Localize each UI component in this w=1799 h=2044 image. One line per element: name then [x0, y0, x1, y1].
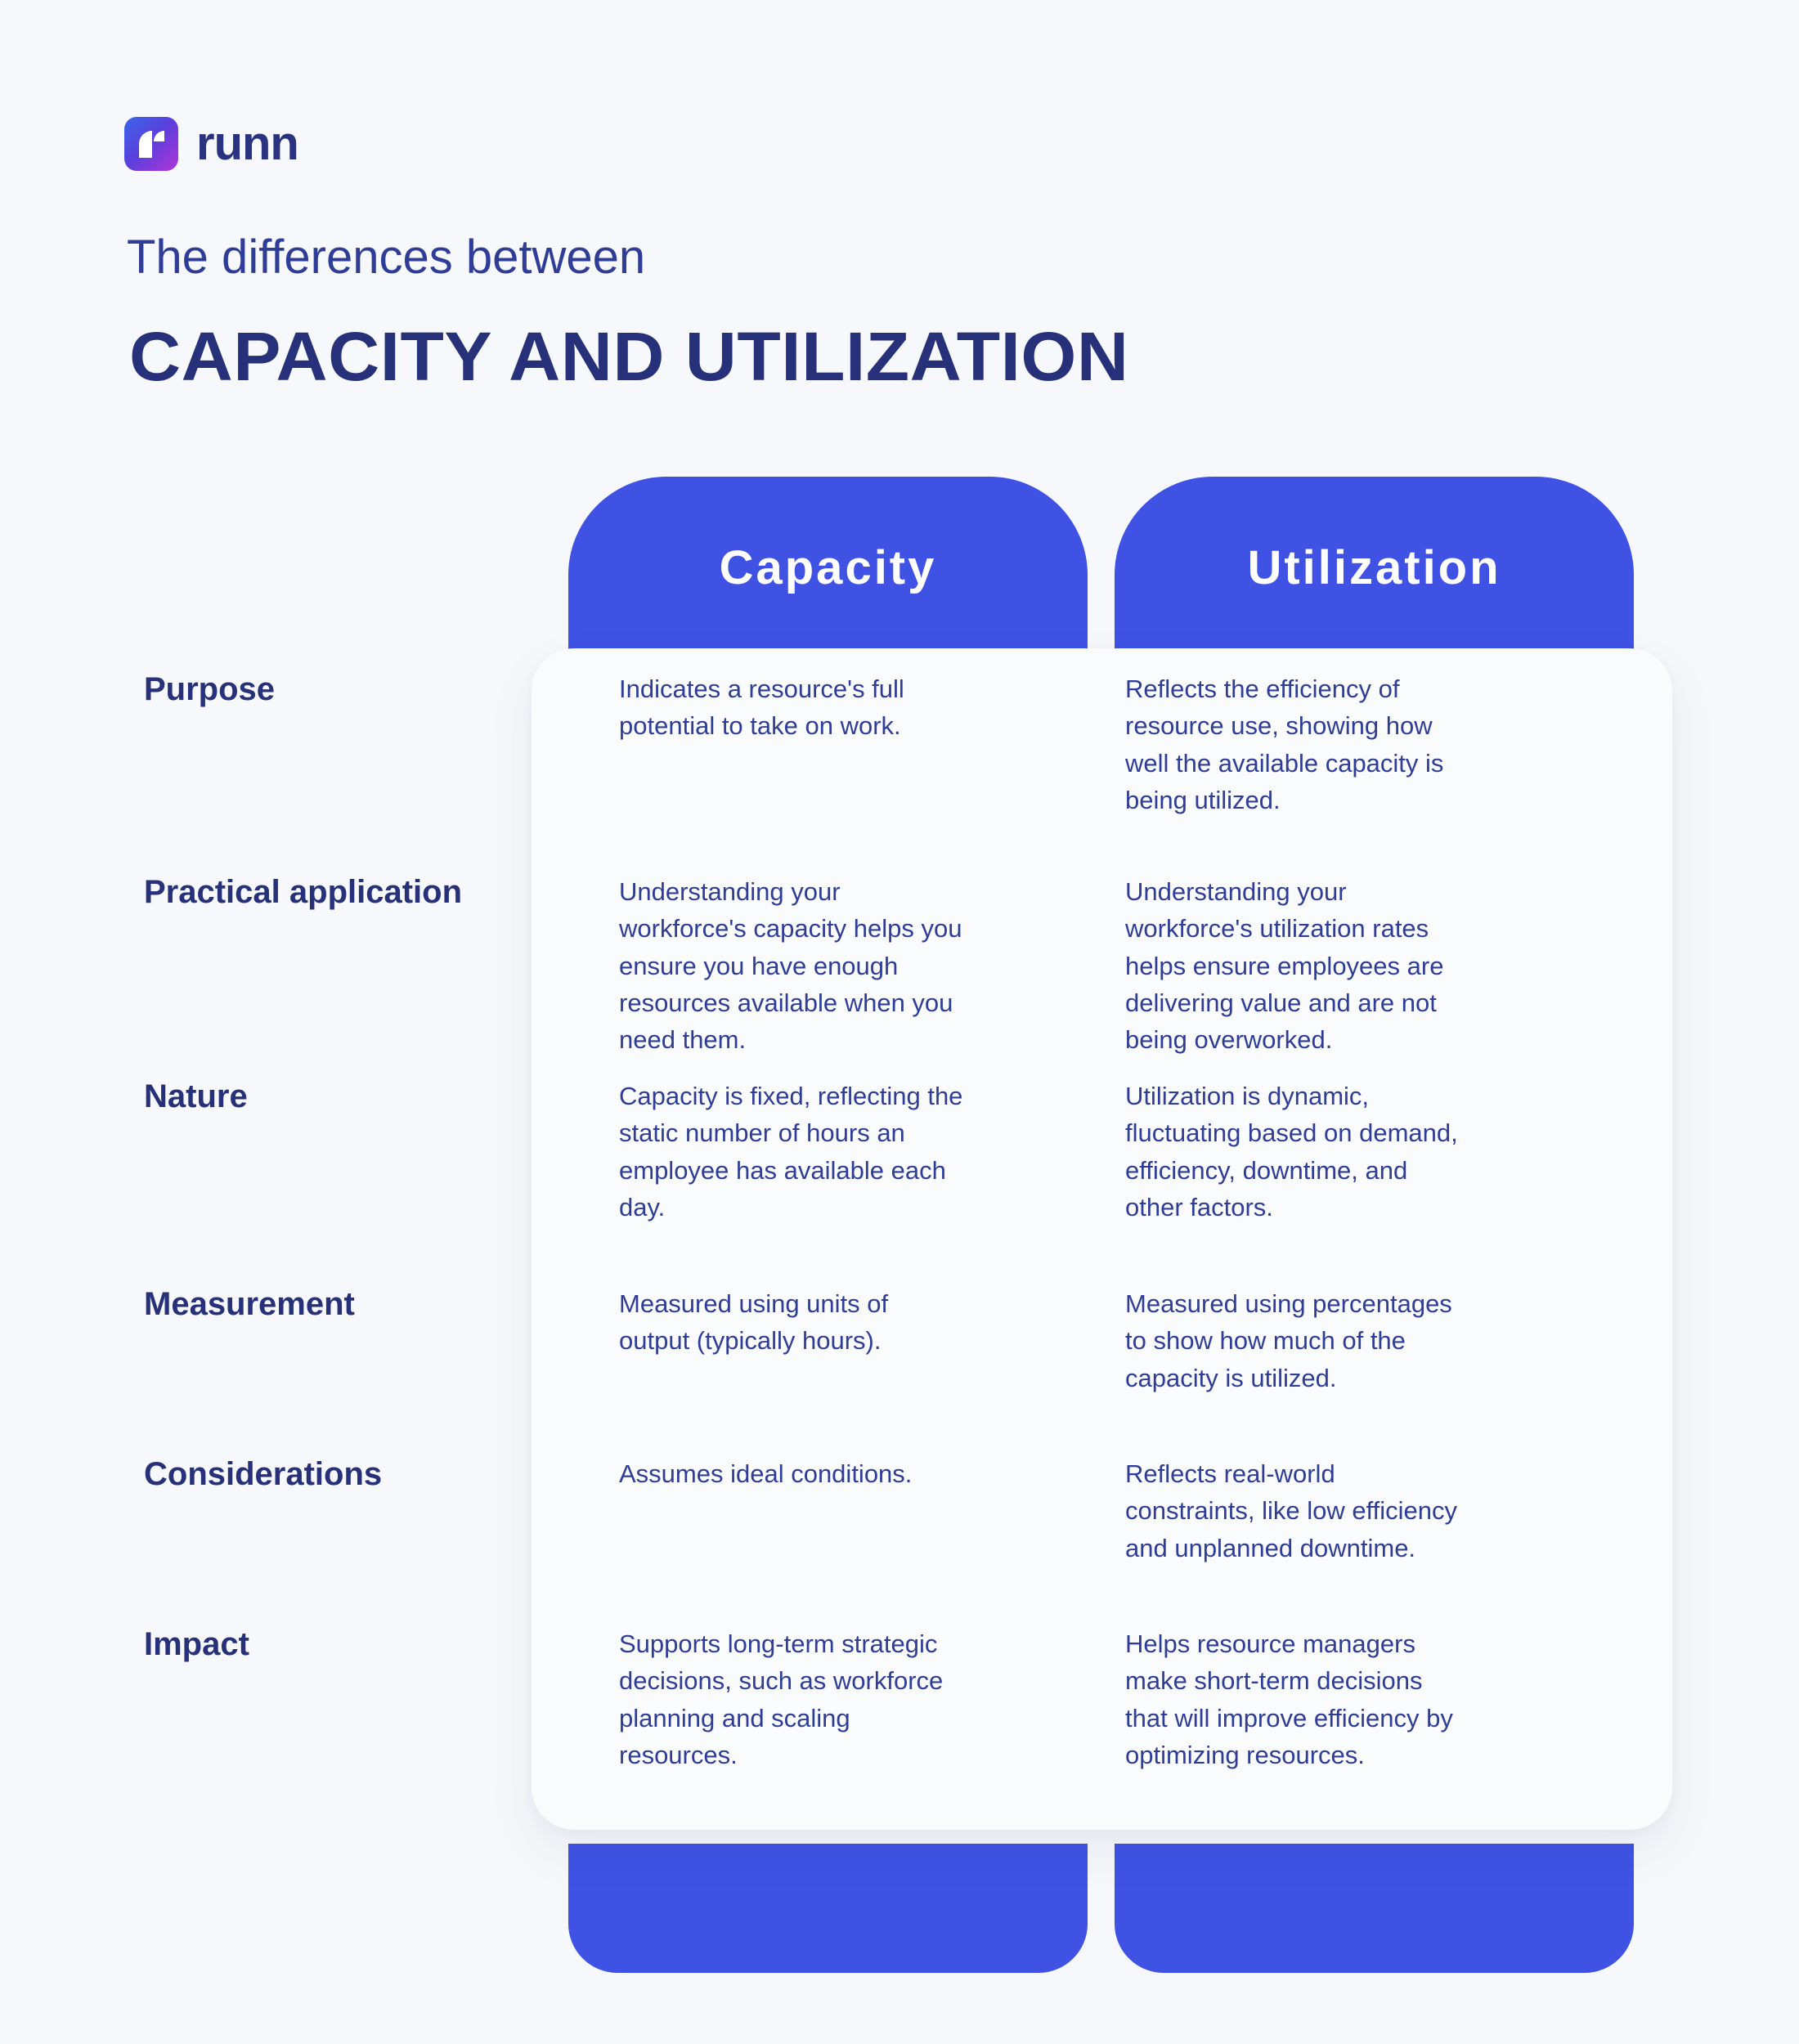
table-row: Purpose Indicates a resource's full pote…: [0, 670, 1799, 873]
cell-measurement-capacity: Measured using units of output (typicall…: [494, 1285, 988, 1360]
cell-impact-capacity: Supports long-term strategic decisions, …: [494, 1625, 988, 1773]
cell-purpose-capacity: Indicates a resource's full potential to…: [494, 670, 988, 745]
table-row: Impact Supports long-term strategic deci…: [0, 1625, 1799, 1805]
cell-nature-capacity: Capacity is fixed, reflecting the static…: [494, 1078, 988, 1226]
cell-nature-utilization: Utilization is dynamic, fluctuating base…: [988, 1078, 1482, 1226]
comparison-grid: Purpose Indicates a resource's full pote…: [0, 670, 1799, 1805]
cell-considerations-capacity: Assumes ideal conditions.: [494, 1455, 988, 1492]
table-row: Practical application Understanding your…: [0, 873, 1799, 1078]
column-footer-capacity: [568, 1844, 1088, 1973]
cell-considerations-utilization: Reflects real-world constraints, like lo…: [988, 1455, 1482, 1567]
row-label-nature: Nature: [0, 1078, 494, 1116]
column-title-utilization: Utilization: [1115, 542, 1634, 594]
table-row: Considerations Assumes ideal conditions.…: [0, 1455, 1799, 1625]
eyebrow-text: The differences between: [127, 231, 645, 285]
table-row: Nature Capacity is fixed, reflecting the…: [0, 1078, 1799, 1285]
cell-practical-application-utilization: Understanding your workforce's utilizati…: [988, 873, 1482, 1058]
row-label-measurement: Measurement: [0, 1285, 494, 1324]
cell-impact-utilization: Helps resource managers make short-term …: [988, 1625, 1482, 1773]
brand-logo: runn: [124, 117, 298, 171]
row-label-impact: Impact: [0, 1625, 494, 1664]
row-label-purpose: Purpose: [0, 670, 494, 709]
runn-logo-mark-icon: [124, 117, 178, 171]
column-footer-utilization: [1115, 1844, 1634, 1973]
page-title: CAPACITY AND UTILIZATION: [129, 319, 1129, 394]
row-label-practical-application: Practical application: [0, 873, 494, 912]
infographic-page: runn The differences between CAPACITY AN…: [0, 0, 1799, 2044]
cell-practical-application-capacity: Understanding your workforce's capacity …: [494, 873, 988, 1058]
logo-stem-shape: [139, 131, 152, 158]
table-row: Measurement Measured using units of outp…: [0, 1285, 1799, 1455]
cell-purpose-utilization: Reflects the efficiency of resource use,…: [988, 670, 1482, 818]
brand-name: runn: [196, 120, 298, 168]
cell-measurement-utilization: Measured using percentages to show how m…: [988, 1285, 1482, 1396]
logo-flag-shape: [154, 131, 164, 141]
column-title-capacity: Capacity: [568, 542, 1088, 594]
row-label-considerations: Considerations: [0, 1455, 494, 1494]
